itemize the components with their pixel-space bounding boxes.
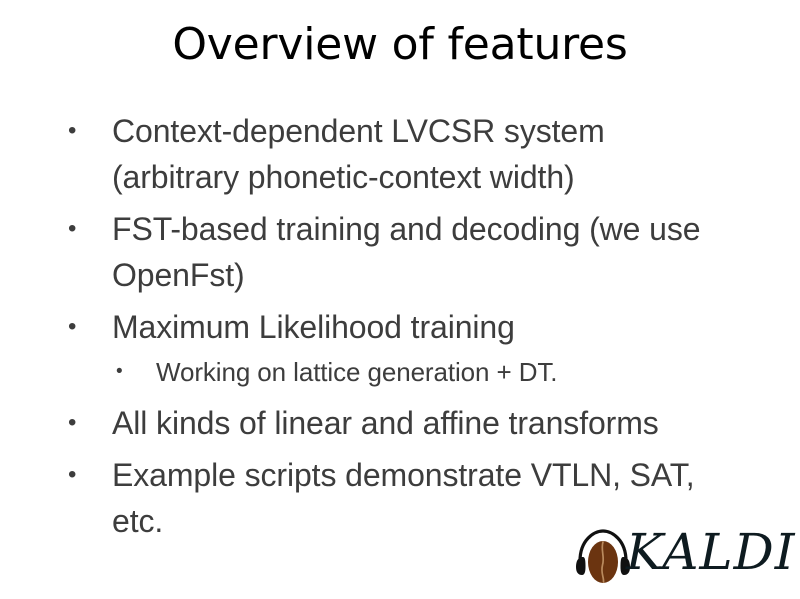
bullet-marker-icon: • — [68, 108, 88, 154]
list-item-text: Maximum Likelihood training — [112, 309, 515, 345]
bullet-marker-icon: • — [68, 304, 88, 350]
list-item: • Context-dependent LVCSR system (arbitr… — [58, 108, 718, 200]
page-title: Overview of features — [0, 18, 800, 72]
presentation-slide: Overview of features • Context-dependent… — [0, 0, 800, 599]
list-item: • FST-based training and decoding (we us… — [58, 206, 718, 298]
bullet-marker-icon: • — [68, 206, 88, 252]
coffee-bean-headphones-icon — [572, 525, 634, 587]
kaldi-logo: KALDI — [572, 523, 784, 591]
bullet-marker-icon: • — [68, 452, 88, 498]
sub-bullet-list: • Working on lattice generation + DT. — [112, 350, 718, 394]
list-item-text: FST-based training and decoding (we use … — [112, 211, 700, 293]
list-item-text: All kinds of linear and affine transform… — [112, 405, 659, 441]
kaldi-wordmark: KALDI — [626, 521, 795, 583]
bullet-list: • Context-dependent LVCSR system (arbitr… — [58, 108, 718, 550]
list-item-text: Context-dependent LVCSR system (arbitrar… — [112, 113, 605, 195]
sub-list-item: • Working on lattice generation + DT. — [112, 350, 718, 394]
list-item: • All kinds of linear and affine transfo… — [58, 400, 718, 446]
sub-list-item-text: Working on lattice generation + DT. — [156, 357, 557, 387]
list-item: • Maximum Likelihood training • Working … — [58, 304, 718, 394]
sub-bullet-marker-icon: • — [116, 350, 134, 394]
bullet-marker-icon: • — [68, 400, 88, 446]
